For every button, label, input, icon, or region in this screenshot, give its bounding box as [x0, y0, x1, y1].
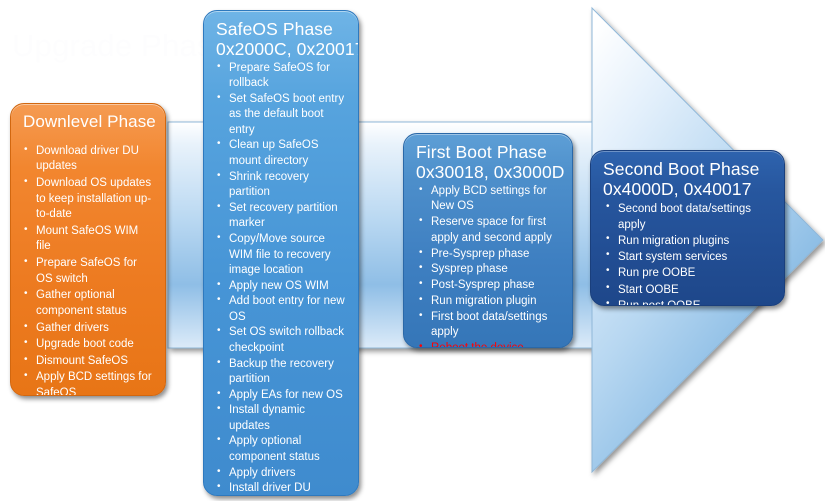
phase-item: Reserve space for first apply and second… — [416, 215, 562, 247]
phase-item: Backup the recovery partition — [216, 357, 348, 388]
phase-item: Apply drivers — [216, 466, 348, 482]
phase-item: Dismount SafeOS — [23, 354, 155, 370]
phase-title-secondboot: Second Boot Phase — [603, 159, 774, 179]
phase-item: First boot data/settings apply — [416, 310, 562, 342]
phase-title-safeos: SafeOS Phase — [216, 19, 348, 39]
phase-item: Sysprep phase — [416, 262, 562, 278]
phase-item: Gather optional component status — [23, 288, 155, 319]
phase-item: Apply EAs for new OS — [216, 388, 348, 404]
phase-box-firstboot[interactable]: First Boot Phase 0x30018, 0x3000D Apply … — [403, 133, 573, 348]
phase-item-list-secondboot: Second boot data/settings applyRun migra… — [603, 201, 774, 306]
phase-item: Second boot data/settings apply — [603, 201, 774, 233]
phase-item: Run migration plugin — [416, 294, 562, 310]
phase-item: Shrink recovery partition — [216, 170, 348, 201]
phase-item: Download OS updates to keep installation… — [23, 176, 155, 223]
phase-item: Apply BCD settings for SafeOS — [23, 370, 155, 396]
phase-item: Set recovery partition marker — [216, 201, 348, 232]
phase-item: Pre-Sysprep phase — [416, 247, 562, 263]
phase-item: Apply BCD settings for New OS — [416, 184, 562, 216]
phase-codes-firstboot: 0x30018, 0x3000D — [416, 162, 562, 182]
phase-item: Gather drivers — [23, 321, 155, 337]
phase-item: Set SafeOS boot entry as the default boo… — [216, 92, 348, 139]
phase-item: Start system services — [603, 249, 774, 265]
phase-item: Clean up SafeOS mount directory — [216, 138, 348, 169]
phase-item: Prepare SafeOS for OS switch — [23, 256, 155, 287]
phase-item: Apply optional component status — [216, 434, 348, 465]
phase-item: Download driver DU updates — [23, 144, 155, 175]
phase-item: Run migration plugins — [603, 233, 774, 249]
phase-item: Install dynamic updates — [216, 403, 348, 434]
phase-item: Set OS switch rollback checkpoint — [216, 325, 348, 356]
phase-item-list-firstboot: Apply BCD settings for New OSReserve spa… — [416, 184, 562, 348]
phase-item: Mount SafeOS WIM file — [23, 224, 155, 255]
phase-codes-secondboot: 0x4000D, 0x40017 — [603, 179, 774, 199]
phase-box-safeos[interactable]: SafeOS Phase 0x2000C, 0x20017 Prepare Sa… — [203, 10, 359, 496]
phase-item: Run post OOBE — [603, 298, 774, 306]
phase-item: Prepare SafeOS for rollback — [216, 61, 348, 92]
diagram-canvas: Upgrade Phases — [0, 0, 825, 501]
phase-item: Upgrade boot code — [23, 337, 155, 353]
phase-item: Run pre OOBE — [603, 265, 774, 281]
phase-title-firstboot: First Boot Phase — [416, 142, 562, 162]
phase-item: Post-Sysprep phase — [416, 278, 562, 294]
phase-box-downlevel[interactable]: Downlevel Phase Download driver DU updat… — [10, 103, 166, 396]
phase-item: Reboot the device — [416, 341, 562, 348]
phase-box-secondboot[interactable]: Second Boot Phase 0x4000D, 0x40017 Secon… — [590, 150, 785, 306]
phase-item: Copy/Move source WIM file to recovery im… — [216, 232, 348, 279]
phase-item: Apply new OS WIM — [216, 279, 348, 295]
phase-item: Add boot entry for new OS — [216, 294, 348, 325]
phase-item-list-downlevel: Download driver DU updatesDownload OS up… — [23, 144, 155, 396]
phase-title-downlevel: Downlevel Phase — [23, 112, 155, 132]
phase-item-list-safeos: Prepare SafeOS for rollbackSet SafeOS bo… — [216, 61, 348, 496]
phase-codes-safeos: 0x2000C, 0x20017 — [216, 39, 348, 59]
phase-item: Install driver DU updates — [216, 481, 348, 496]
phase-item: Start OOBE — [603, 282, 774, 298]
